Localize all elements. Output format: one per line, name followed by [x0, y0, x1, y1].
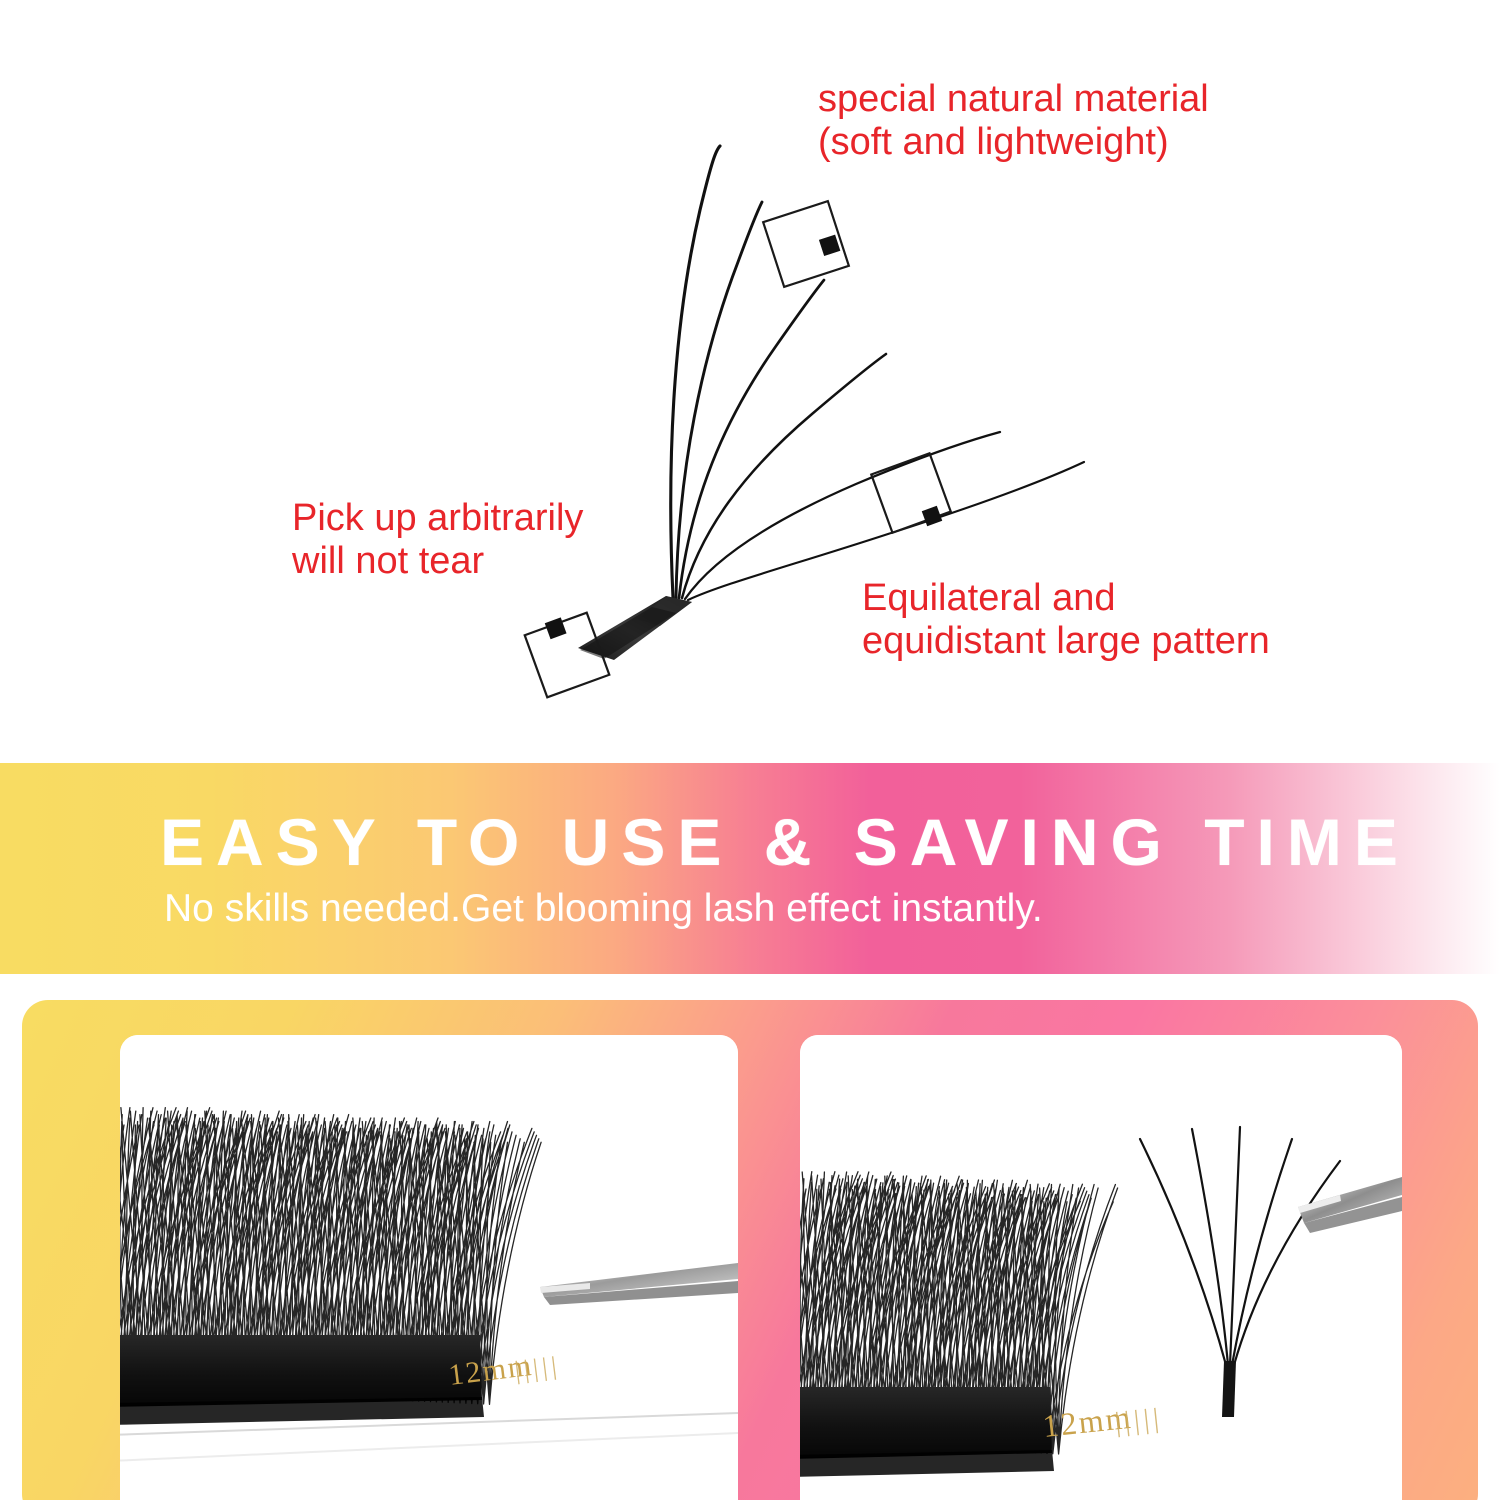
headline-banner: EASY TO USE & SAVING TIME No skills need…	[0, 763, 1500, 974]
photo-card-lash-tray: 12mm |||||	[120, 1035, 738, 1500]
lash-fan-pickup-photo: 12mm |||||	[800, 1035, 1402, 1500]
svg-text:|||||: |||||	[513, 1351, 562, 1385]
lash-fan-diagram-section: special natural material (soft and light…	[0, 0, 1500, 763]
lash-tray-strip	[800, 1387, 1054, 1477]
photo-panel: 12mm |||||	[22, 1000, 1478, 1500]
lash-fan-illustration	[0, 0, 1500, 763]
callout-text-pattern: Equilateral and equidistant large patter…	[862, 577, 1270, 664]
product-infographic-page: special natural material (soft and light…	[0, 0, 1500, 1500]
banner-subtitle: No skills needed.Get blooming lash effec…	[0, 889, 1500, 928]
lash-base-band	[578, 596, 692, 660]
callout-marker-1	[763, 201, 849, 287]
callout-text-pickup: Pick up arbitrarily will not tear	[292, 497, 583, 584]
callout-marker-2	[871, 453, 950, 532]
lash-tray-strip	[120, 1335, 484, 1425]
callout-text-material: special natural material (soft and light…	[818, 78, 1209, 165]
photo-card-lash-fan-pickup: 12mm |||||	[800, 1035, 1402, 1500]
svg-text:|||||: |||||	[1113, 1403, 1164, 1439]
lash-strand-4	[682, 354, 886, 598]
lash-strand-5	[685, 432, 1000, 599]
lash-tray-photo: 12mm |||||	[120, 1035, 738, 1500]
lash-strands	[671, 146, 1084, 600]
banner-title: EASY TO USE & SAVING TIME	[0, 809, 1500, 875]
